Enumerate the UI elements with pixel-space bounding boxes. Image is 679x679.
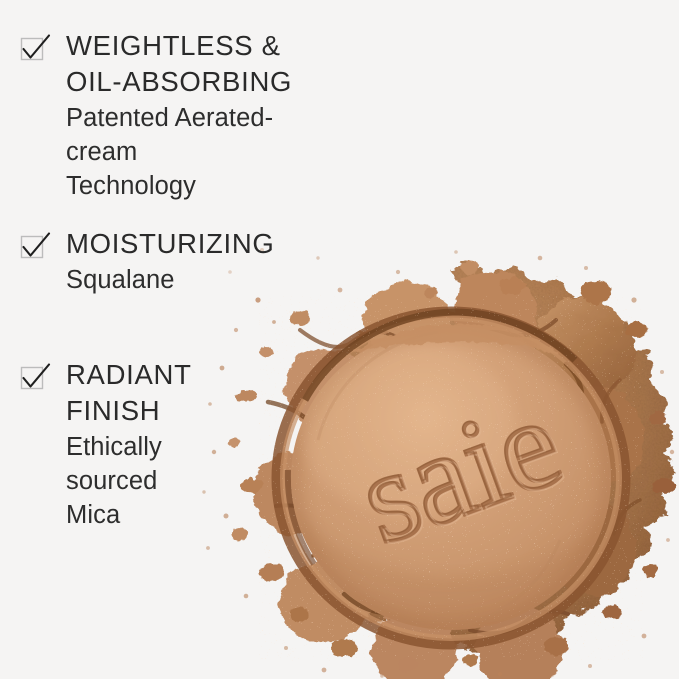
feature-text-block: RADIANT FINISH Ethically sourced Mica [66, 357, 192, 533]
feature-text-block: MOISTURIZING Squalane [66, 226, 275, 298]
pan-chipped-edge [352, 324, 560, 354]
product-feature-graphic: saie saie saie [0, 0, 679, 679]
feature-subtext: Patented Aerated-cream Technology [66, 102, 340, 204]
feature-text-block: WEIGHTLESS & OIL-ABSORBING Patented Aera… [66, 28, 340, 204]
saie-brand-emboss: saie saie saie [341, 368, 581, 574]
feature-item-radiant-finish: RADIANT FINISH Ethically sourced Mica [18, 357, 192, 533]
feature-item-weightless-oil-absorbing: WEIGHTLESS & OIL-ABSORBING Patented Aera… [18, 28, 340, 204]
checkbox-checked-icon [18, 359, 52, 393]
feature-list: WEIGHTLESS & OIL-ABSORBING Patented Aera… [0, 0, 340, 679]
feature-heading: WEIGHTLESS & OIL-ABSORBING [66, 28, 340, 100]
powder-crumble-outer [297, 262, 675, 652]
feature-subtext: Ethically sourced Mica [66, 431, 192, 533]
feature-subtext: Squalane [66, 264, 275, 298]
checkbox-checked-icon [18, 30, 52, 64]
svg-text:saie: saie [345, 371, 581, 572]
svg-text:saie: saie [341, 369, 577, 570]
feature-heading: MOISTURIZING [66, 226, 275, 262]
checkbox-checked-icon [18, 228, 52, 262]
feature-item-moisturizing: MOISTURIZING Squalane [18, 226, 275, 298]
feature-heading: RADIANT FINISH [66, 357, 192, 429]
svg-text:saie: saie [342, 370, 578, 571]
